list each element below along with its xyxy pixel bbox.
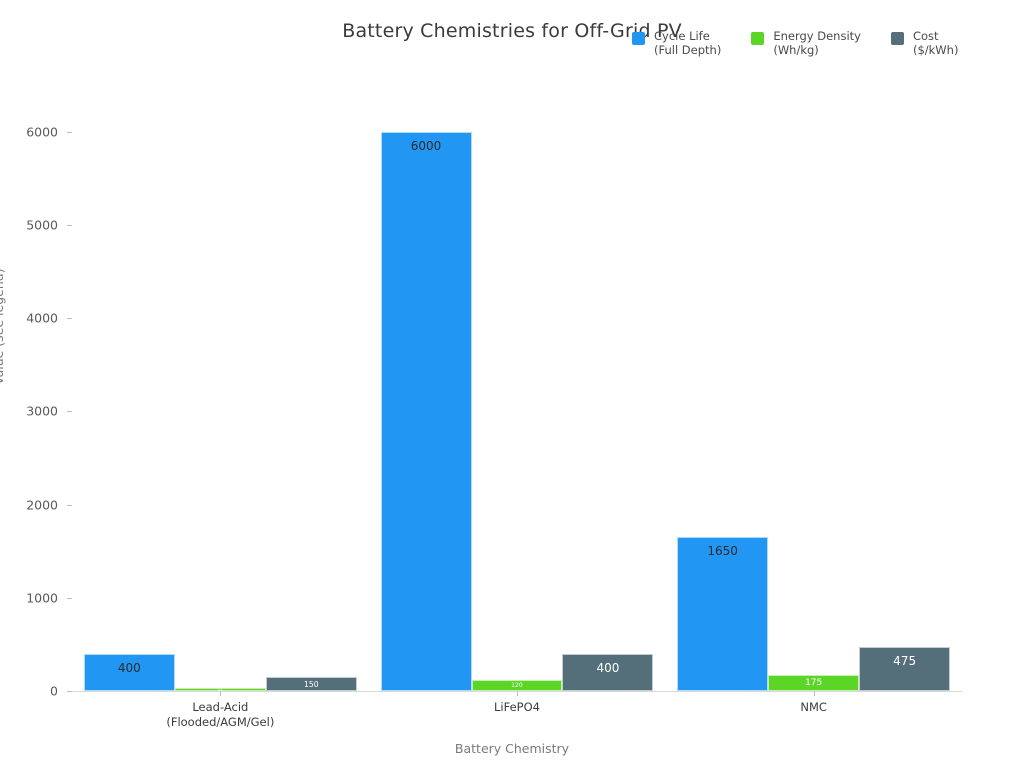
bar-value-label: 6000 [382, 139, 471, 153]
y-tick-label: 1000 [26, 590, 58, 605]
y-tick-mark [67, 318, 72, 319]
bar[interactable]: 120 [472, 680, 563, 691]
x-tick-mark [220, 691, 221, 696]
x-tick-label: NMC [800, 700, 827, 715]
x-tick-label-line: LiFePO4 [494, 700, 540, 714]
legend-label-cost-line2: ($/kWh) [913, 43, 958, 57]
legend-item-energy-density[interactable]: Energy Density (Wh/kg) [751, 29, 861, 57]
legend-label-cost: Cost ($/kWh) [913, 29, 958, 57]
legend-swatch-cycle-life [632, 32, 645, 45]
bar-value-label: 400 [563, 661, 652, 675]
legend-label-energy-density-line2: (Wh/kg) [773, 43, 818, 57]
bar-value-label: 175 [769, 678, 858, 688]
legend-item-cost[interactable]: Cost ($/kWh) [891, 29, 958, 57]
y-tick-mark [67, 132, 72, 133]
bar[interactable]: 400 [562, 654, 653, 691]
bar-value-label: 1650 [678, 544, 767, 558]
legend-label-energy-density-line1: Energy Density [773, 29, 861, 43]
bar[interactable]: 175 [768, 675, 859, 691]
y-tick-label: 2000 [26, 497, 58, 512]
y-tick-label: 0 [50, 684, 58, 699]
chart-legend: Cycle Life (Full Depth) Energy Density (… [632, 29, 958, 57]
legend-label-cost-line1: Cost [913, 29, 939, 43]
x-tick-mark [517, 691, 518, 696]
x-tick-label-line: NMC [800, 700, 827, 714]
bar-value-label: 120 [473, 682, 562, 689]
y-tick-label: 6000 [26, 124, 58, 139]
legend-label-energy-density: Energy Density (Wh/kg) [773, 29, 861, 57]
x-tick-label-line: Lead-Acid [192, 700, 248, 714]
y-tick-label: 4000 [26, 311, 58, 326]
y-tick-mark [67, 411, 72, 412]
bar[interactable]: 150 [266, 677, 357, 691]
bar-value-label: 150 [267, 680, 356, 689]
legend-swatch-energy-density [751, 32, 764, 45]
y-axis: 0100020003000400050006000 [0, 0, 72, 768]
x-tick-label-line: (Flooded/AGM/Gel) [166, 715, 274, 729]
bar-value-label: 400 [85, 661, 174, 675]
legend-swatch-cost [891, 32, 904, 45]
x-tick-label: Lead-Acid(Flooded/AGM/Gel) [166, 700, 274, 730]
y-tick-label: 5000 [26, 218, 58, 233]
x-tick-mark [814, 691, 815, 696]
y-tick-label: 3000 [26, 404, 58, 419]
bar[interactable]: 475 [859, 647, 950, 691]
bar[interactable]: 400 [84, 654, 175, 691]
y-tick-mark [67, 225, 72, 226]
legend-label-cycle-life-line2: (Full Depth) [654, 43, 721, 57]
legend-label-cycle-life: Cycle Life (Full Depth) [654, 29, 721, 57]
bar[interactable]: 1650 [677, 537, 768, 691]
y-tick-mark [67, 505, 72, 506]
legend-item-cycle-life[interactable]: Cycle Life (Full Depth) [632, 29, 721, 57]
y-axis-label: Value (see legend) [0, 185, 6, 385]
chart-figure: Battery Chemistries for Off-Grid PV Cycl… [0, 0, 1024, 768]
bar[interactable]: 6000 [381, 132, 472, 691]
legend-label-cycle-life-line1: Cycle Life [654, 29, 710, 43]
x-axis-label: Battery Chemistry [0, 741, 1024, 756]
x-tick-label: LiFePO4 [494, 700, 540, 715]
y-tick-mark [67, 598, 72, 599]
bar-value-label: 475 [860, 654, 949, 668]
